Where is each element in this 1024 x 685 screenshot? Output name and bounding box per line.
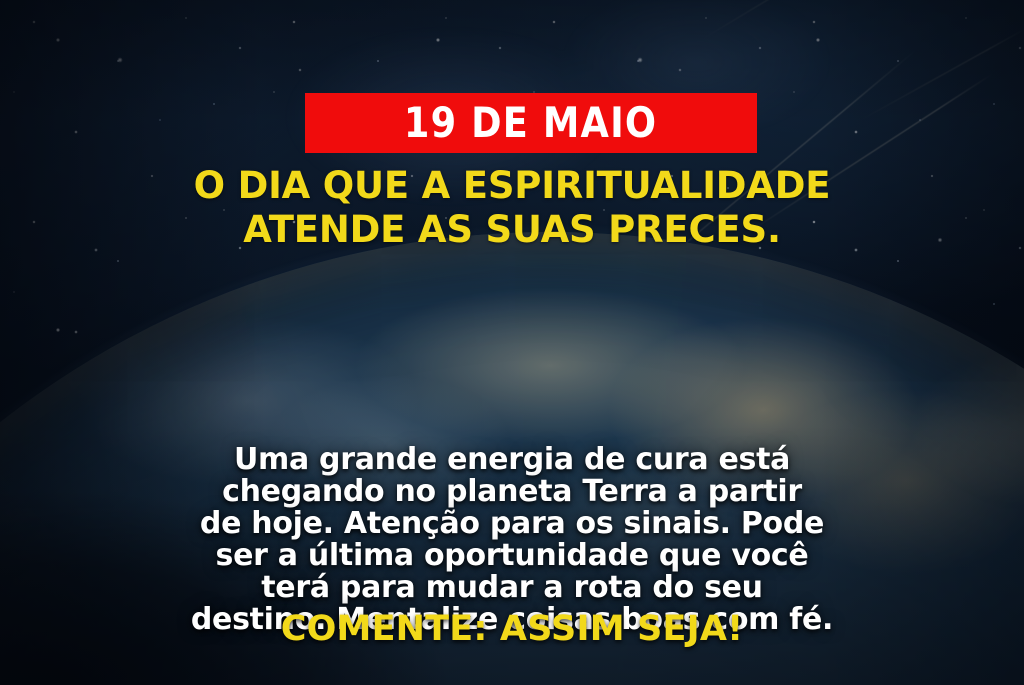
body-line-4: ser a última oportunidade que você — [48, 540, 976, 572]
poster-content: 19 DE MAIO O DIA QUE A ESPIRITUALIDADE A… — [0, 0, 1024, 685]
body-paragraph: Uma grande energia de cura está chegando… — [48, 444, 976, 637]
date-banner: 19 DE MAIO — [305, 93, 757, 153]
poster-canvas: 19 DE MAIO O DIA QUE A ESPIRITUALIDADE A… — [0, 0, 1024, 685]
call-to-action-text: COMENTE: ASSIM SEJA! — [50, 612, 974, 647]
body-line-3: de hoje. Atenção para os sinais. Pode — [48, 508, 976, 540]
body-line-1: Uma grande energia de cura está — [48, 444, 976, 476]
headline-line-2: ATENDE AS SUAS PRECES. — [50, 208, 974, 252]
date-banner-text: 19 DE MAIO — [404, 102, 657, 144]
body-line-5: terá para mudar a rota do seu — [48, 572, 976, 604]
headline: O DIA QUE A ESPIRITUALIDADE ATENDE AS SU… — [50, 164, 974, 251]
headline-line-1: O DIA QUE A ESPIRITUALIDADE — [50, 164, 974, 208]
body-line-2: chegando no planeta Terra a partir — [48, 476, 976, 508]
